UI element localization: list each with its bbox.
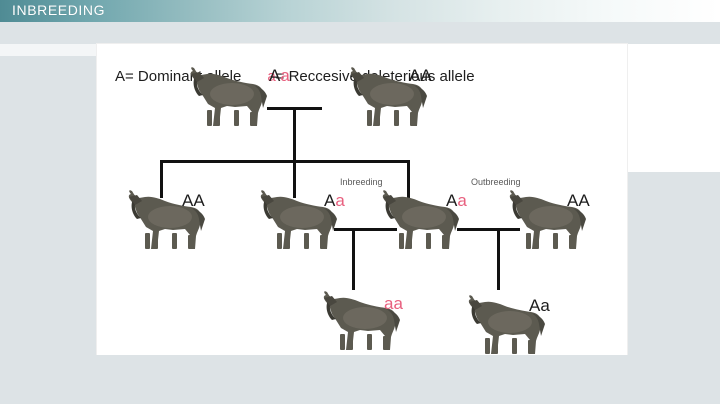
genotype-f2a-recessive: aa: [384, 294, 403, 313]
connector-gen2-sibship: [160, 160, 410, 163]
genotype-p1-dominant: A: [269, 66, 280, 85]
pedigree-diagram: Aa: [97, 44, 627, 377]
genotype-f1b: Aa: [324, 192, 345, 209]
left-margin: [0, 44, 97, 56]
genotype-p1: Aa: [269, 67, 290, 84]
connector-inbreeding-drop: [352, 228, 355, 290]
genotype-f1b-recessive: a: [335, 191, 344, 210]
genotype-p1-recessive: a: [280, 66, 289, 85]
genotype-f1a: AA: [182, 192, 205, 209]
horse-icon-p1: [177, 66, 273, 132]
genotype-f1d: AA: [567, 192, 590, 209]
genotype-p2: AA: [409, 67, 432, 84]
genotype-f1c-recessive: a: [457, 191, 466, 210]
genotype-f1c: Aa: [446, 192, 467, 209]
page-title: INBREEDING: [12, 2, 105, 18]
genotype-f1d-dominant: AA: [567, 191, 590, 210]
genotype-f2b: Aa: [529, 297, 550, 314]
footer-bar: Study.com ·: [0, 355, 720, 404]
genotype-f2b-dominant: Aa: [529, 296, 550, 315]
slide-header-bar: INBREEDING: [0, 0, 720, 22]
genotype-f2a: aa: [384, 295, 403, 312]
genotype-f1c-dominant: A: [446, 191, 457, 210]
connector-gen1-drop: [293, 107, 296, 162]
label-inbreeding: Inbreeding: [340, 177, 383, 187]
genotype-f1a-dominant: AA: [182, 191, 205, 210]
genotype-p2-dominant: AA: [409, 66, 432, 85]
genotype-f1b-dominant: A: [324, 191, 335, 210]
label-outbreeding: Outbreeding: [471, 177, 521, 187]
diagram-panel: A= Dominant allelea= Reccesive deleterio…: [97, 44, 627, 377]
slide-body: A= Dominant allelea= Reccesive deleterio…: [0, 22, 720, 404]
video-frame: INBREEDING A= Dominant allelea= Reccesiv…: [0, 0, 720, 404]
right-margin: [627, 44, 720, 172]
